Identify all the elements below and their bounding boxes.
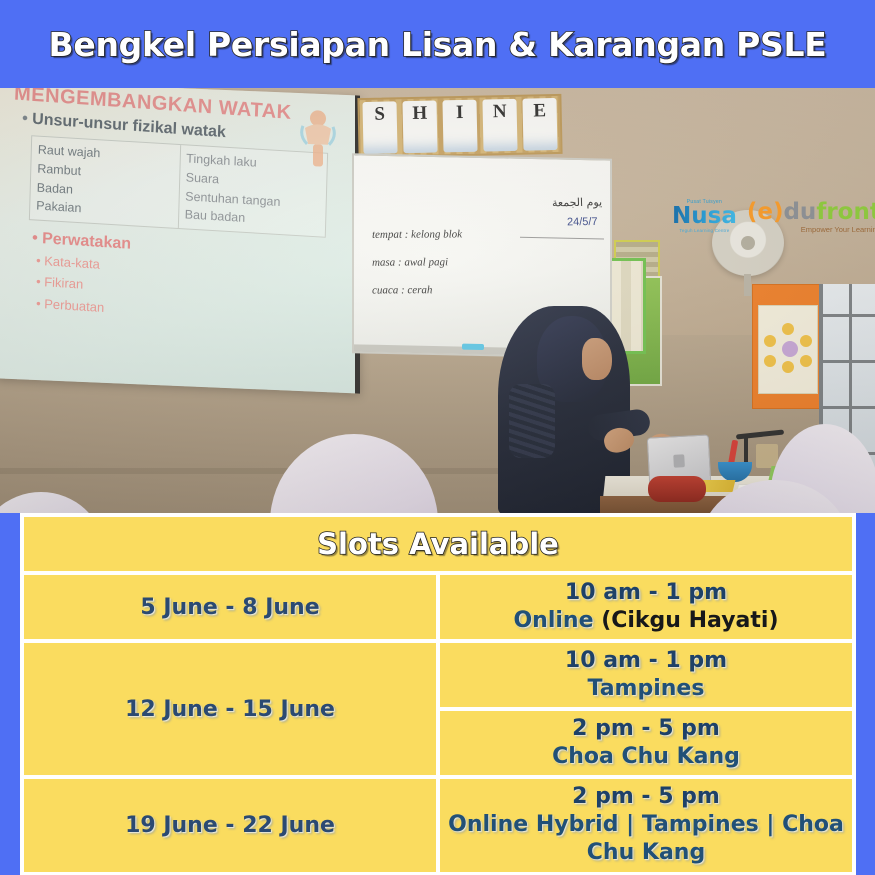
date-cell: 12 June - 15 June — [24, 643, 436, 775]
projector-slide: MENGEMBANGKAN WATAK • Unsur-unsur fizika… — [0, 88, 355, 392]
logo-group: Pusat Tuisyen Nusa Teguh Learning Centre… — [672, 200, 875, 234]
slots-available-header: Slots Available — [24, 517, 852, 571]
orange-wall-poster — [752, 284, 824, 409]
slots-table: Slots Available 5 June - 8 June 10 am - … — [20, 513, 856, 875]
nusa-logo-name: Nusa — [672, 205, 737, 228]
slot-venue-name: Online — [513, 608, 593, 633]
edufront-logo: (e)dufront Empower Your Learning — [747, 201, 875, 234]
teacher-scarf — [509, 384, 555, 458]
date-cell: 19 June - 22 June — [24, 779, 436, 872]
poster-header: Bengkel Persiapan Lisan & Karangan PSLE — [0, 0, 875, 88]
edufront-logo-name: (e)dufront — [747, 201, 875, 224]
slot-venue: Online (Cikgu Hayati) — [446, 607, 846, 636]
table-row: 19 June - 22 June 2 pm - 5 pm Online Hyb… — [24, 779, 852, 872]
slots-available-label: Slots Available — [317, 527, 559, 561]
slot-venue: Choa Chu Kang — [446, 743, 846, 772]
slots-table-container: Slots Available 5 June - 8 June 10 am - … — [20, 513, 856, 861]
slot-time: 2 pm - 5 pm — [446, 715, 846, 743]
slide-column-left: Raut wajah Rambut Badan Pakaian — [30, 136, 180, 228]
table-header-row: Slots Available — [24, 517, 852, 571]
whiteboard-marker — [462, 344, 484, 350]
shine-wall-banner: S H I N E — [357, 94, 562, 158]
shine-letter: E — [522, 98, 557, 151]
bullet-icon: • — [22, 110, 28, 127]
whiteboard-line: tempat : kelong blok — [372, 228, 462, 240]
whiteboard-corner-note: يوم الجمعة — [552, 196, 603, 210]
date-range-label: 12 June - 15 June — [125, 697, 335, 722]
slot-venue: Online Hybrid | Tampines | Choa Chu Kang — [446, 811, 846, 868]
page-title: Bengkel Persiapan Lisan & Karangan PSLE — [49, 25, 827, 64]
slot-cell: 2 pm - 5 pm Choa Chu Kang — [440, 711, 852, 775]
projector-screen: MENGEMBANGKAN WATAK • Unsur-unsur fizika… — [0, 88, 360, 394]
slot-time: 10 am - 1 pm — [446, 579, 846, 607]
table-row: 5 June - 8 June 10 am - 1 pm Online (Cik… — [24, 575, 852, 639]
slot-time: 10 am - 1 pm — [446, 647, 846, 675]
slot-venue-note: (Cikgu Hayati) — [601, 608, 778, 633]
slide-heading-secondary-text: Perwatakan — [42, 230, 131, 253]
wall-rail — [0, 468, 560, 474]
nusa-logo-subtext: Teguh Learning Centre — [679, 229, 729, 234]
shine-letter: S — [362, 101, 397, 154]
whiteboard-line: masa : awal pagi — [372, 256, 448, 268]
classroom-photo: MENGEMBANGKAN WATAK • Unsur-unsur fizika… — [0, 88, 875, 513]
slot-time: 2 pm - 5 pm — [446, 783, 846, 811]
slot-cell: 2 pm - 5 pm Online Hybrid | Tampines | C… — [440, 779, 852, 872]
whiteboard-line: cuaca : cerah — [372, 284, 433, 296]
date-cell: 5 June - 8 June — [24, 575, 436, 639]
fan-stem — [744, 274, 751, 296]
pencil-pouch — [648, 476, 706, 502]
shine-letter: I — [442, 100, 477, 153]
slot-cell: 10 am - 1 pm Tampines — [440, 643, 852, 707]
shine-letter: N — [482, 99, 517, 152]
date-range-label: 19 June - 22 June — [125, 813, 335, 838]
pencil-cup — [756, 444, 778, 468]
poster-graphic — [762, 323, 814, 371]
teacher-face — [582, 338, 612, 380]
table-row: 12 June - 15 June 10 am - 1 pm Tampines — [24, 643, 852, 707]
date-range-label: 5 June - 8 June — [140, 595, 319, 620]
shine-letter: H — [402, 100, 437, 153]
nusa-logo: Pusat Tuisyen Nusa Teguh Learning Centre — [672, 200, 737, 234]
slot-venue: Tampines — [446, 675, 846, 704]
edufront-logo-tagline: Empower Your Learning — [747, 226, 875, 234]
slot-cell: 10 am - 1 pm Online (Cikgu Hayati) — [440, 575, 852, 639]
mascot-figure-icon — [297, 106, 339, 173]
slide-two-column-box: Raut wajah Rambut Badan Pakaian Tingkah … — [29, 135, 328, 238]
whiteboard-underline — [520, 237, 604, 240]
whiteboard-corner-date: 24/5/7 — [567, 216, 598, 228]
